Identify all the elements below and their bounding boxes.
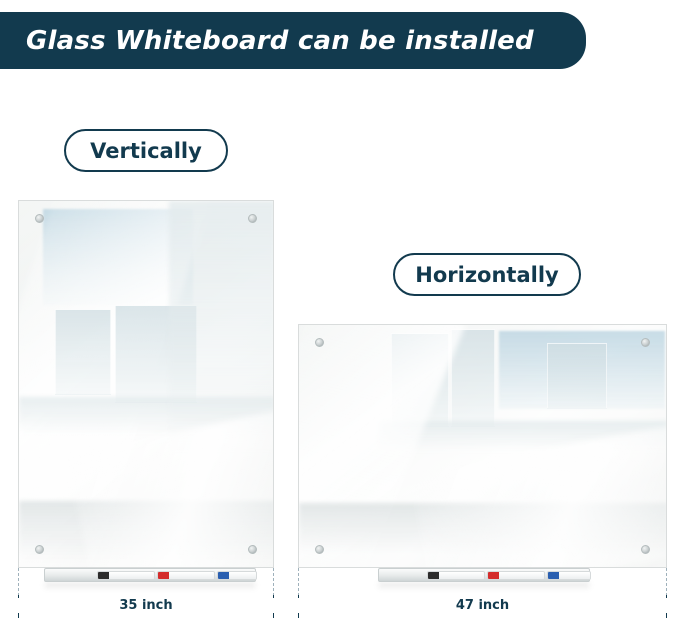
dimension-label-vertical: 35 inch (113, 598, 178, 613)
black-marker-vertical (97, 571, 155, 580)
reflection-glare (410, 420, 667, 568)
reflection-window-left (391, 333, 449, 427)
screw-top-left (35, 214, 44, 223)
marker-cap-black (98, 572, 109, 579)
dimension-label-wrap: 47 inch (298, 598, 667, 613)
header-banner: Glass Whiteboard can be installed (0, 12, 586, 69)
screw-top-left (315, 338, 324, 347)
screw-bottom-left (35, 545, 44, 554)
reflection-window-left (55, 309, 111, 395)
guide-line-vertical-right (273, 568, 275, 596)
marker-body (439, 572, 484, 579)
screw-bottom-right (248, 545, 257, 554)
marker-cap-red (488, 572, 499, 579)
dimension-label-horizontal: 47 inch (450, 598, 515, 613)
marker-tray-vertical (44, 568, 256, 582)
dimension-ruler-vertical: 35 inch (18, 595, 274, 619)
reflection-glare (66, 410, 274, 568)
red-marker-vertical (157, 571, 215, 580)
marker-cap-blue (218, 572, 229, 579)
reflection-highlight (298, 324, 465, 568)
dimension-ruler-horizontal: 47 inch (298, 595, 667, 619)
marker-body (169, 572, 214, 579)
reflection-sky (43, 209, 193, 305)
reflection-window-mid (451, 329, 495, 427)
reflection-highlight (18, 200, 210, 568)
reflection-floor (19, 501, 274, 561)
guide-line-vertical-left (18, 568, 20, 596)
reflection-building (547, 343, 607, 409)
reflection-right-panel (169, 201, 274, 451)
red-marker-horizontal (487, 571, 545, 580)
page-title: Glass Whiteboard can be installed (0, 26, 534, 56)
marker-tray-horizontal (378, 568, 590, 582)
dimension-label-wrap: 35 inch (18, 598, 274, 613)
marker-body (499, 572, 544, 579)
tray-shadow-vertical (44, 582, 256, 588)
marker-cap-blue (548, 572, 559, 579)
reflection-sill (379, 421, 667, 449)
black-marker-horizontal (427, 571, 485, 580)
reflection-floor (299, 503, 667, 553)
screw-bottom-left (315, 545, 324, 554)
screw-top-right (248, 214, 257, 223)
tray-shadow-horizontal (378, 582, 590, 588)
screw-top-right (641, 338, 650, 347)
whiteboard-horizontal (298, 324, 667, 568)
label-pill-horizontally: Horizontally (393, 253, 581, 296)
whiteboard-vertical (18, 200, 274, 568)
screw-bottom-right (641, 545, 650, 554)
marker-body (109, 572, 154, 579)
pill-label-vertically: Vertically (90, 139, 202, 163)
marker-cap-black (428, 572, 439, 579)
guide-line-horizontal-right (666, 568, 668, 596)
blue-marker-vertical (217, 571, 257, 580)
marker-cap-red (158, 572, 169, 579)
reflection-window-right (115, 305, 197, 403)
label-pill-vertically: Vertically (64, 129, 228, 172)
marker-body (559, 572, 590, 579)
reflection-sill (19, 397, 274, 433)
guide-line-horizontal-left (298, 568, 300, 596)
pill-label-horizontally: Horizontally (415, 263, 558, 287)
blue-marker-horizontal (547, 571, 591, 580)
marker-body (229, 572, 256, 579)
